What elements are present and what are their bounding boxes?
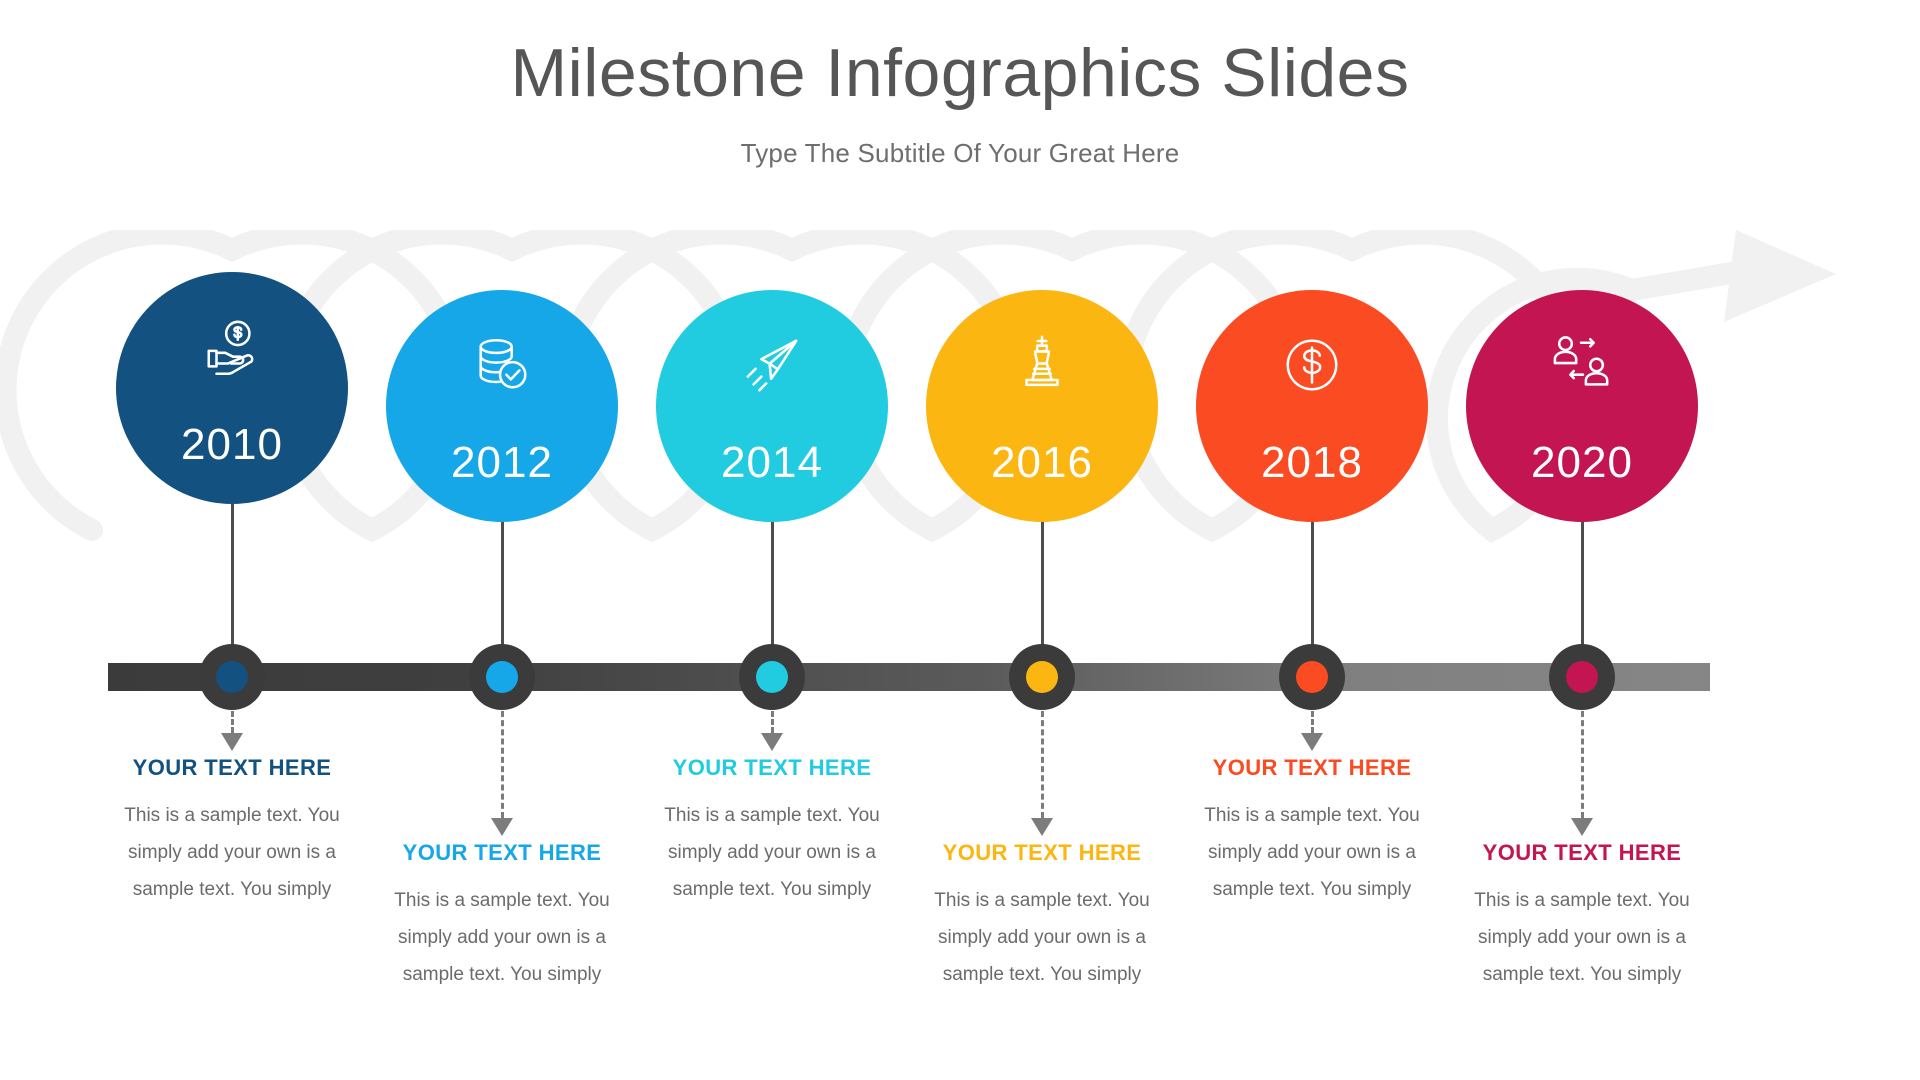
milestone-body-text: This is a sample text. You simply add yo…: [373, 882, 631, 993]
dashed-connector-arrowhead: [761, 733, 783, 751]
milestone-text-block: YOUR TEXT HEREThis is a sample text. You…: [913, 840, 1171, 994]
page-subtitle: Type The Subtitle Of Your Great Here: [0, 138, 1920, 169]
dashed-connector-arrowhead: [491, 818, 513, 836]
hand-holding-money-icon: [201, 316, 263, 378]
timeline-marker-2018[interactable]: [1279, 644, 1345, 710]
milestone-year: 2016: [926, 438, 1158, 488]
timeline-marker-2020[interactable]: [1549, 644, 1615, 710]
user-exchange-icon: [1551, 334, 1613, 396]
slide-canvas: Milestone Infographics Slides Type The S…: [0, 0, 1920, 1080]
milestone-text-block: YOUR TEXT HEREThis is a sample text. You…: [643, 755, 901, 909]
milestone-heading: YOUR TEXT HERE: [643, 755, 901, 781]
dashed-connector-arrowhead: [1301, 733, 1323, 751]
milestone-body-text: This is a sample text. You simply add yo…: [1183, 797, 1441, 908]
timeline-marker-dot: [756, 661, 788, 693]
milestone-body-text: This is a sample text. You simply add yo…: [1453, 882, 1711, 993]
milestone-text-block: YOUR TEXT HEREThis is a sample text. You…: [1183, 755, 1441, 909]
milestone-heading: YOUR TEXT HERE: [1183, 755, 1441, 781]
dashed-connector-arrowhead: [1571, 818, 1593, 836]
milestone-heading: YOUR TEXT HERE: [373, 840, 631, 866]
timeline-bar: [108, 663, 1710, 691]
dashed-connector: [1311, 711, 1314, 733]
dashed-connector: [1581, 711, 1584, 818]
timeline-marker-dot: [216, 661, 248, 693]
database-check-icon: [471, 334, 533, 396]
milestone-heading: YOUR TEXT HERE: [1453, 840, 1711, 866]
milestone-year: 2020: [1466, 438, 1698, 488]
slide-header: Milestone Infographics Slides Type The S…: [0, 34, 1920, 169]
milestone-circle-2014[interactable]: 2014: [656, 290, 888, 522]
milestone-circle-2020[interactable]: 2020: [1466, 290, 1698, 522]
milestone-text-block: YOUR TEXT HEREThis is a sample text. You…: [103, 755, 361, 909]
milestone-circle-2010[interactable]: 2010: [116, 272, 348, 504]
milestone-circle-2018[interactable]: 2018: [1196, 290, 1428, 522]
milestone-body-text: This is a sample text. You simply add yo…: [913, 882, 1171, 993]
chess-king-icon: [1011, 334, 1073, 396]
milestone-heading: YOUR TEXT HERE: [103, 755, 361, 781]
ribbon-arrowhead: [1724, 230, 1836, 322]
timeline-marker-2014[interactable]: [739, 644, 805, 710]
timeline-marker-2010[interactable]: [199, 644, 265, 710]
milestone-text-block: YOUR TEXT HEREThis is a sample text. You…: [373, 840, 631, 994]
milestone-circle-2016[interactable]: 2016: [926, 290, 1158, 522]
timeline-marker-dot: [1296, 661, 1328, 693]
timeline-marker-dot: [1566, 661, 1598, 693]
milestone-year: 2014: [656, 438, 888, 488]
dashed-connector: [231, 711, 234, 733]
page-title: Milestone Infographics Slides: [0, 34, 1920, 112]
dollar-circle-icon: [1281, 334, 1343, 396]
timeline-marker-2016[interactable]: [1009, 644, 1075, 710]
timeline-marker-dot: [1026, 661, 1058, 693]
dashed-connector: [1041, 711, 1044, 818]
dashed-connector: [771, 711, 774, 733]
timeline-marker-2012[interactable]: [469, 644, 535, 710]
milestone-heading: YOUR TEXT HERE: [913, 840, 1171, 866]
dashed-connector-arrowhead: [1031, 818, 1053, 836]
milestone-body-text: This is a sample text. You simply add yo…: [643, 797, 901, 908]
paper-plane-icon: [741, 334, 803, 396]
dashed-connector: [501, 711, 504, 818]
milestone-year: 2012: [386, 438, 618, 488]
milestone-body-text: This is a sample text. You simply add yo…: [103, 797, 361, 908]
milestone-circle-2012[interactable]: 2012: [386, 290, 618, 522]
milestone-year: 2018: [1196, 438, 1428, 488]
milestone-text-block: YOUR TEXT HEREThis is a sample text. You…: [1453, 840, 1711, 994]
dashed-connector-arrowhead: [221, 733, 243, 751]
timeline-marker-dot: [486, 661, 518, 693]
milestone-year: 2010: [116, 420, 348, 470]
